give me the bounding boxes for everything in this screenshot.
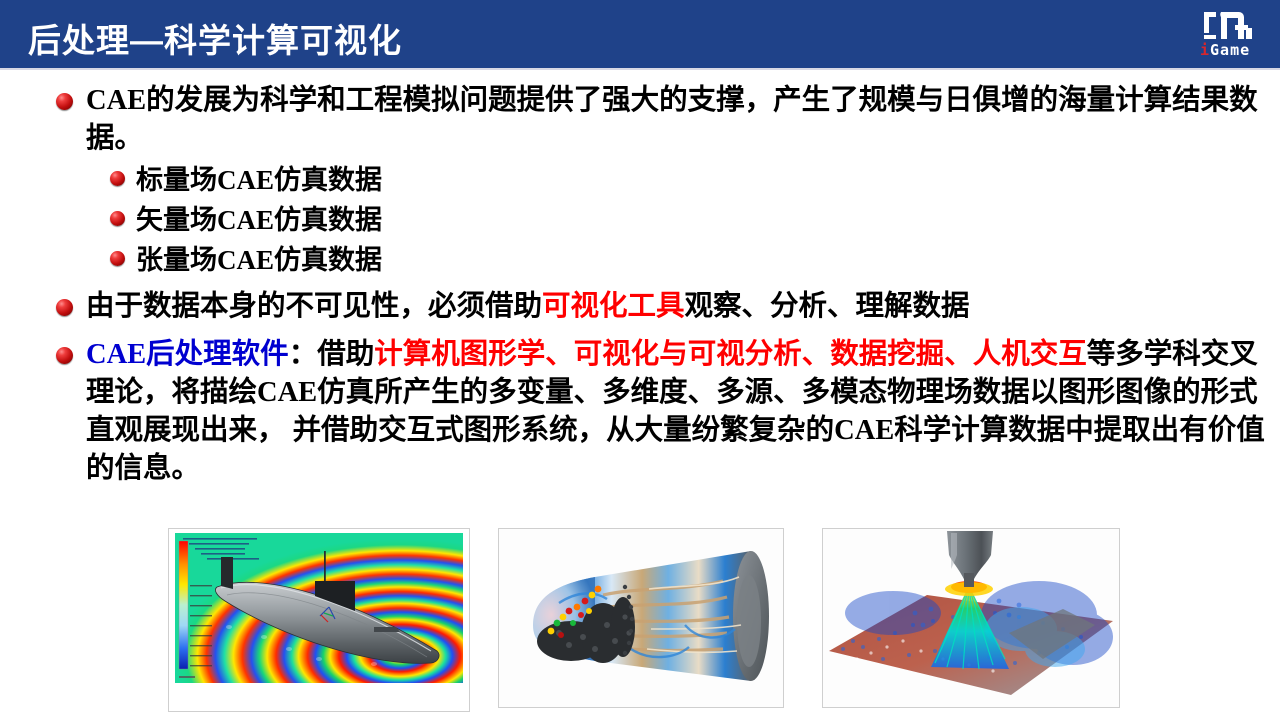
slide: 后处理—科学计算可视化 iGame CAE的发展为科学和工程模拟问题提供了强大的…	[0, 0, 1280, 718]
igame-logo: iGame	[1194, 8, 1258, 60]
bullet-text: CAE的发展为科学和工程模拟问题提供了强大的支撑，产生了规模与日俱增的海量计算结…	[86, 85, 1258, 154]
sub-bullet-text: 张量场CAE仿真数据	[136, 245, 382, 275]
slide-header: 后处理—科学计算可视化 iGame	[0, 0, 1280, 68]
bullet-segment: 标量场CAE仿真数据	[136, 165, 382, 195]
bullet-sphere-icon	[56, 93, 73, 110]
header-divider	[0, 68, 1280, 70]
bullet-segment: ：借助	[289, 339, 375, 370]
bullet-segment: 矢量场CAE仿真数据	[136, 205, 382, 235]
spray-jet-particles-graphic	[823, 529, 1119, 707]
bullet-item: CAE后处理软件：借助计算机图形学、可视化与可视分析、数据挖掘、人机交互等多学科…	[0, 336, 1280, 488]
figure-spray-jet-particles	[822, 528, 1120, 708]
bullet-segment: 由于数据本身的不可见性，必须借助	[86, 291, 542, 322]
submarine-acoustic-field-graphic	[169, 529, 469, 711]
sub-bullet-item: 标量场CAE仿真数据	[0, 162, 1280, 198]
figure-strip	[0, 528, 1280, 714]
bullet-segment-term: CAE后处理软件	[86, 339, 289, 370]
sub-bullet-text: 标量场CAE仿真数据	[136, 165, 382, 195]
igame-mark-icon	[1202, 8, 1254, 42]
bullet-sphere-icon	[56, 299, 73, 316]
bullet-text: 由于数据本身的不可见性，必须借助可视化工具观察、分析、理解数据	[86, 291, 970, 322]
page-title: 后处理—科学计算可视化	[28, 14, 402, 62]
igame-wordmark: iGame	[1200, 41, 1250, 59]
bullet-segment-highlight: 可视化工具	[542, 291, 685, 322]
bullet-segment: CAE的发展为科学和工程模拟问题提供了强大的支撑，产生了规模与日俱增的海量计算结…	[86, 85, 1258, 154]
bullet-sphere-icon	[110, 211, 125, 226]
bullet-segment: 观察、分析、理解数据	[685, 291, 970, 322]
bullet-sphere-icon	[110, 251, 125, 266]
sub-bullet-text: 矢量场CAE仿真数据	[136, 205, 382, 235]
figure-combustor-cfd-flow	[498, 528, 784, 708]
bullet-text: CAE后处理软件：借助计算机图形学、可视化与可视分析、数据挖掘、人机交互等多学科…	[86, 339, 1265, 484]
sub-bullet-item: 矢量场CAE仿真数据	[0, 202, 1280, 238]
combustor-cfd-flow-graphic	[499, 529, 783, 707]
bullet-segment-highlight: 计算机图形学、可视化与可视分析、数据挖掘、人机交互	[374, 339, 1087, 370]
bullet-item: 由于数据本身的不可见性，必须借助可视化工具观察、分析、理解数据	[0, 288, 1280, 326]
sub-bullet-item: 张量场CAE仿真数据	[0, 242, 1280, 278]
bullet-sphere-icon	[56, 347, 73, 364]
igame-wordmark-rest: Game	[1210, 41, 1250, 59]
bullet-segment: 张量场CAE仿真数据	[136, 245, 382, 275]
bullet-sphere-icon	[110, 171, 125, 186]
figure-submarine-acoustic-field	[168, 528, 470, 712]
slide-body: CAE的发展为科学和工程模拟问题提供了强大的支撑，产生了规模与日俱增的海量计算结…	[0, 72, 1280, 488]
bullet-item: CAE的发展为科学和工程模拟问题提供了强大的支撑，产生了规模与日俱增的海量计算结…	[0, 82, 1280, 158]
igame-wordmark-i: i	[1200, 41, 1210, 59]
